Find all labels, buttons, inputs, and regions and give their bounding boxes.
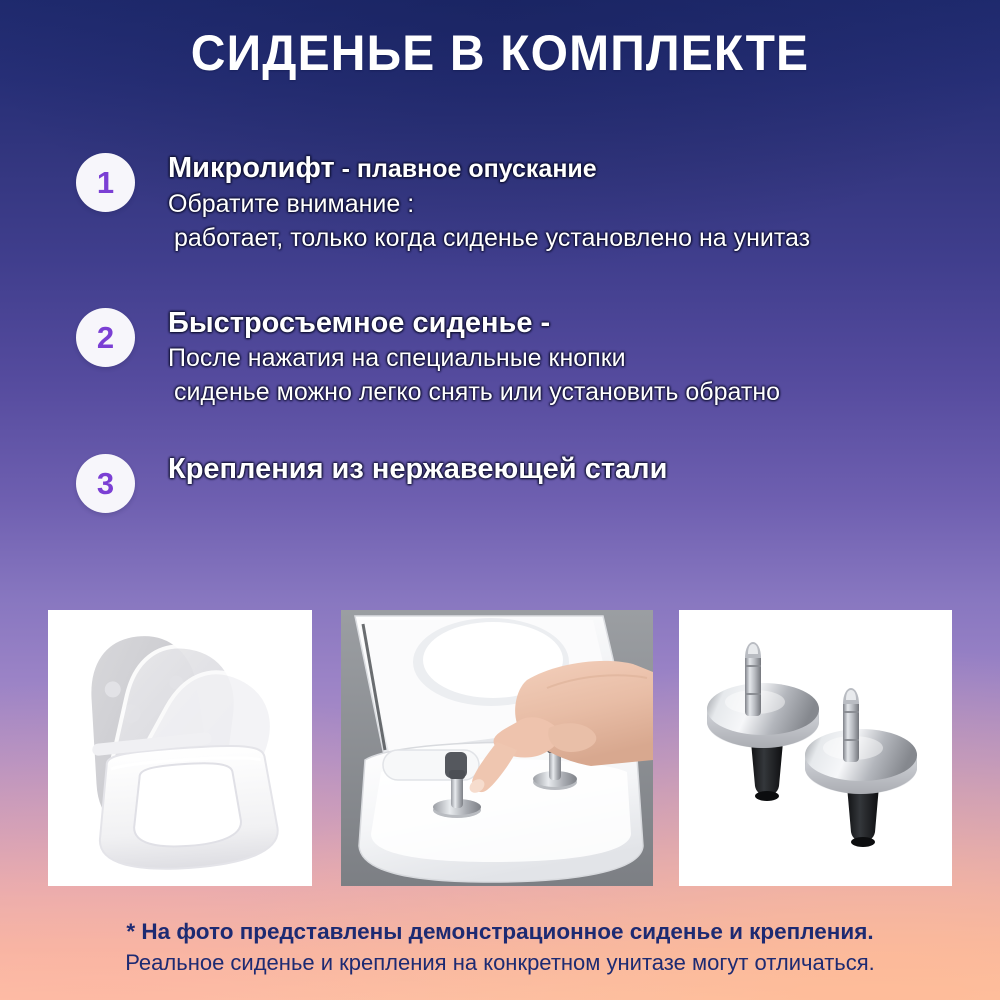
photo-panel-soft-close-seat [48,610,312,886]
feature-line-2-2: сиденье можно легко снять или установить… [174,375,980,409]
feature-heading-bold-1: Микролифт [168,152,335,184]
feature-badge-2: 2 [76,308,135,367]
feature-badge-1: 1 [76,153,135,212]
photo-panel-quick-release [341,610,653,886]
feature-badge-number-3: 3 [97,468,114,499]
footnote: * На фото представлены демонстрационное … [0,916,1000,978]
feature-item-3: 3 Крепления из нержавеющей стали [0,451,1000,511]
feature-heading-2: Быстросъемное сиденье - [168,305,980,341]
product-infographic-poster: СИДЕНЬЕ В КОМПЛЕКТЕ 1 Микролифт - плавно… [0,0,1000,1000]
feature-heading-1: Микролифт - плавное опускание [168,150,980,187]
footnote-line-2: Реальное сиденье и крепления на конкретн… [0,947,1000,978]
feature-heading-light-1: - плавное опускание [335,155,597,183]
feature-item-2: 2 Быстросъемное сиденье - После нажатия … [0,305,1000,409]
photo-panel-row [0,610,1000,886]
quick-release-illustration [341,610,653,886]
feature-line-2-1: После нажатия на специальные кнопки [168,341,980,375]
footnote-line-1: * На фото представлены демонстрационное … [0,916,1000,947]
photo-panel-stainless-fixings [679,610,952,886]
feature-badge-number-2: 2 [97,322,114,353]
stainless-fixings-illustration [679,610,952,886]
feature-text-2: Быстросъемное сиденье - После нажатия на… [168,305,1000,409]
feature-badge-3: 3 [76,454,135,513]
page-title: СИДЕНЬЕ В КОМПЛЕКТЕ [20,24,980,82]
feature-text-3: Крепления из нержавеющей стали [168,451,1000,487]
feature-line-1-2: работает, только когда сиденье установле… [174,221,980,255]
feature-text-1: Микролифт - плавное опускание Обратите в… [168,150,1000,255]
feature-item-1: 1 Микролифт - плавное опускание Обратите… [0,150,1000,255]
feature-list: 1 Микролифт - плавное опускание Обратите… [0,150,1000,511]
feature-line-1-1: Обратите внимание : [168,187,980,221]
feature-heading-bold-2: Быстросъемное сиденье - [168,307,550,339]
feature-badge-number-1: 1 [97,167,114,198]
feature-heading-3: Крепления из нержавеющей стали [168,451,980,487]
soft-close-seat-illustration [48,610,312,886]
feature-heading-bold-3: Крепления из нержавеющей стали [168,453,667,485]
